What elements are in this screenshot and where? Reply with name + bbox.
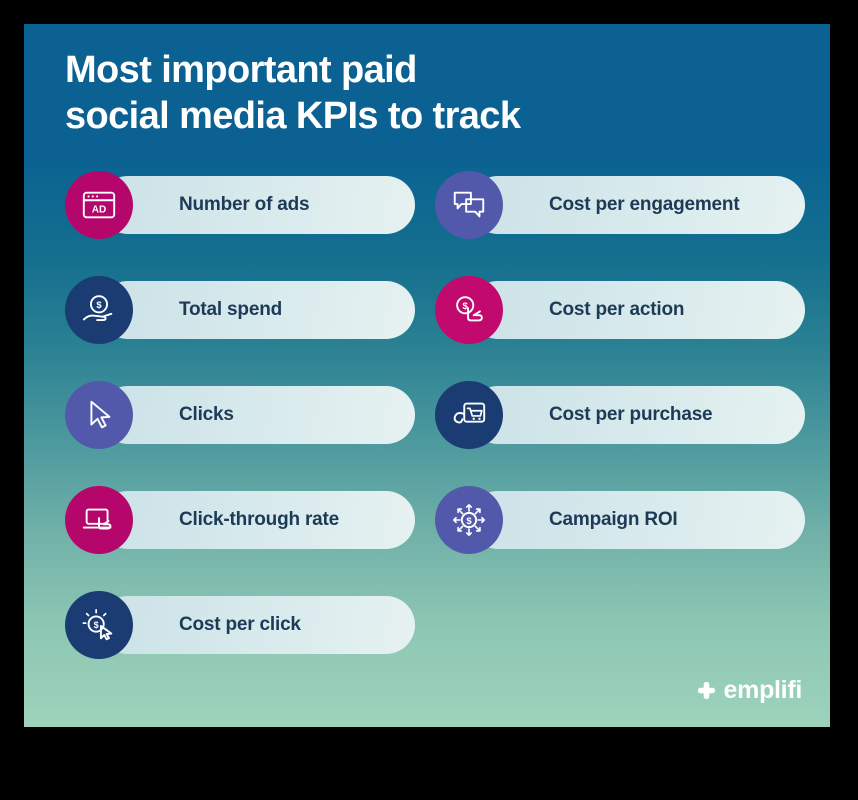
- kpi-label: Campaign ROI: [549, 509, 678, 531]
- kpi-pill: Campaign ROI: [469, 491, 805, 549]
- kpi-badge-cost-per-click: $: [65, 591, 133, 659]
- kpi-badge-number-of-ads: AD: [65, 171, 133, 239]
- kpi-label: Cost per action: [549, 299, 684, 321]
- kpi-label: Clicks: [179, 404, 234, 426]
- laptop-click-hand-icon: [80, 501, 118, 539]
- kpi-item-clicks[interactable]: Clicks: [65, 381, 415, 449]
- svg-text:$: $: [96, 300, 102, 311]
- kpi-item-cost-per-click[interactable]: Cost per click $: [65, 591, 415, 659]
- kpi-item-number-of-ads[interactable]: Number of ads AD: [65, 171, 415, 239]
- infographic-poster: Most important paid social media KPIs to…: [24, 24, 830, 727]
- svg-text:$: $: [94, 620, 99, 630]
- kpi-column-right: Cost per engagement Cost per action: [435, 171, 785, 591]
- kpi-badge-click-through-rate: [65, 486, 133, 554]
- kpi-badge-cost-per-purchase: [435, 381, 503, 449]
- clover-four-petal-icon: [696, 680, 717, 701]
- kpi-badge-total-spend: $: [65, 276, 133, 344]
- kpi-item-campaign-roi[interactable]: Campaign ROI $: [435, 486, 785, 554]
- kpi-item-cost-per-action[interactable]: Cost per action $: [435, 276, 785, 344]
- kpi-item-cost-per-purchase[interactable]: Cost per purchase: [435, 381, 785, 449]
- kpi-label: Click-through rate: [179, 509, 339, 531]
- kpi-label: Total spend: [179, 299, 282, 321]
- shopping-cart-screen-icon: [450, 396, 488, 434]
- kpi-pill: Cost per purchase: [469, 386, 805, 444]
- kpi-badge-cost-per-engagement: [435, 171, 503, 239]
- kpi-pill: Cost per action: [469, 281, 805, 339]
- coin-pointing-hand-icon: $: [450, 291, 488, 329]
- ad-browser-window-icon: AD: [80, 186, 118, 224]
- kpi-item-cost-per-engagement[interactable]: Cost per engagement: [435, 171, 785, 239]
- kpi-item-total-spend[interactable]: Total spend $: [65, 276, 415, 344]
- kpi-pill: Cost per click: [99, 596, 415, 654]
- cursor-arrow-icon: [80, 396, 118, 434]
- kpi-pill: Click-through rate: [99, 491, 415, 549]
- kpi-badge-cost-per-action: $: [435, 276, 503, 344]
- kpi-column-left: Number of ads AD Total spend: [65, 171, 415, 696]
- kpi-label: Cost per click: [179, 614, 301, 636]
- brand-name: emplifi: [724, 676, 802, 705]
- hand-holding-coin-icon: $: [80, 291, 118, 329]
- page-title: Most important paid social media KPIs to…: [65, 47, 765, 140]
- kpi-badge-clicks: [65, 381, 133, 449]
- coin-cursor-click-icon: $: [80, 606, 118, 644]
- kpi-item-click-through-rate[interactable]: Click-through rate: [65, 486, 415, 554]
- coin-radiating-arrows-icon: $: [450, 501, 488, 539]
- kpi-label: Cost per engagement: [549, 194, 739, 216]
- kpi-pill: Number of ads: [99, 176, 415, 234]
- brand-logo: emplifi: [696, 676, 802, 705]
- kpi-pill: Clicks: [99, 386, 415, 444]
- svg-text:AD: AD: [92, 205, 106, 216]
- kpi-label: Number of ads: [179, 194, 309, 216]
- kpi-label: Cost per purchase: [549, 404, 712, 426]
- chat-bubbles-icon: [450, 186, 488, 224]
- svg-text:$: $: [466, 516, 472, 527]
- kpi-badge-campaign-roi: $: [435, 486, 503, 554]
- kpi-pill: Total spend: [99, 281, 415, 339]
- kpi-pill: Cost per engagement: [469, 176, 805, 234]
